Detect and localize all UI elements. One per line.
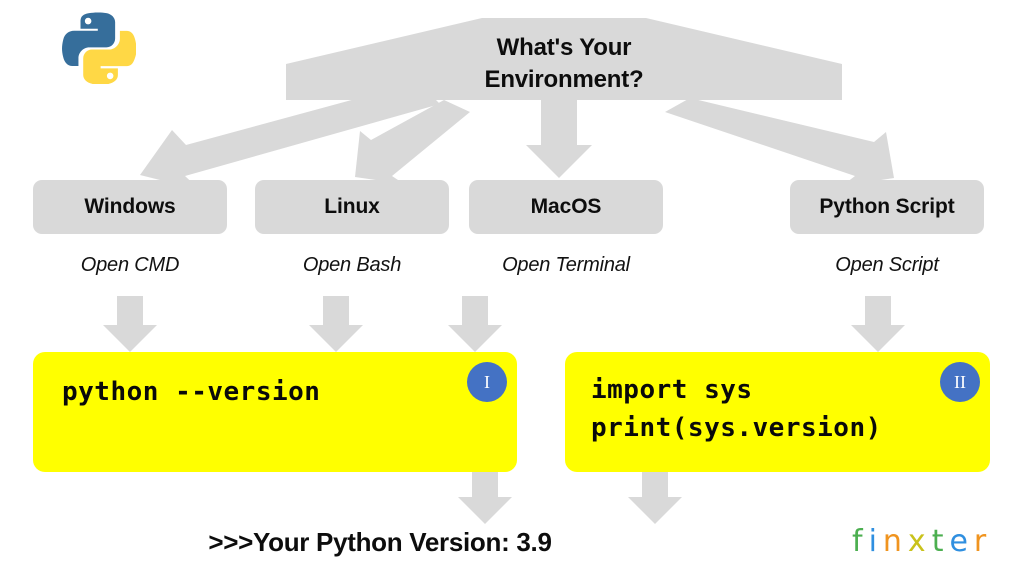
- finxter-letter: n: [883, 524, 908, 559]
- option-sub-linux: Open Bash: [255, 254, 449, 277]
- code-text: python --version: [62, 374, 320, 412]
- arrow-code2-to-result: [628, 472, 682, 524]
- infographic-canvas: What's Your Environment? Windows Open CM…: [0, 0, 1024, 576]
- badge-roman-one: I: [467, 362, 507, 402]
- option-box-windows[interactable]: Windows: [33, 180, 227, 234]
- option-label: Linux: [324, 195, 380, 219]
- arrow-to-python-script: [665, 98, 894, 186]
- finxter-letter: f: [852, 524, 869, 559]
- arrow-linux-to-code: [309, 296, 363, 352]
- option-sub-windows: Open CMD: [33, 254, 227, 277]
- code-text: import sys print(sys.version): [591, 372, 882, 447]
- option-label: MacOS: [531, 195, 602, 219]
- arrow-windows-to-code: [103, 296, 157, 352]
- option-label: Windows: [84, 195, 175, 219]
- finxter-letter: i: [869, 524, 883, 559]
- code-card-terminal-command[interactable]: python --version I: [33, 352, 517, 472]
- finxter-letter: x: [908, 524, 932, 559]
- arrow-code1-to-result: [458, 472, 512, 524]
- arrow-to-macos: [526, 100, 592, 178]
- finxter-letter: e: [949, 524, 973, 559]
- finxter-letter: r: [974, 524, 992, 559]
- option-label: Python Script: [819, 195, 954, 219]
- finxter-logo: finxter: [852, 524, 992, 559]
- finxter-letter: t: [932, 524, 950, 559]
- option-sub-python-script: Open Script: [790, 254, 984, 277]
- arrow-macos-to-code: [448, 296, 502, 352]
- result-output-text: >>>Your Python Version: 3.9: [0, 527, 760, 558]
- option-sub-macos: Open Terminal: [453, 254, 679, 277]
- arrow-script-to-code: [851, 296, 905, 352]
- option-box-python-script[interactable]: Python Script: [790, 180, 984, 234]
- code-card-script-snippet[interactable]: import sys print(sys.version) II: [565, 352, 990, 472]
- option-box-macos[interactable]: MacOS: [469, 180, 663, 234]
- option-box-linux[interactable]: Linux: [255, 180, 449, 234]
- badge-roman-two: II: [940, 362, 980, 402]
- arrow-layer: [0, 0, 1024, 576]
